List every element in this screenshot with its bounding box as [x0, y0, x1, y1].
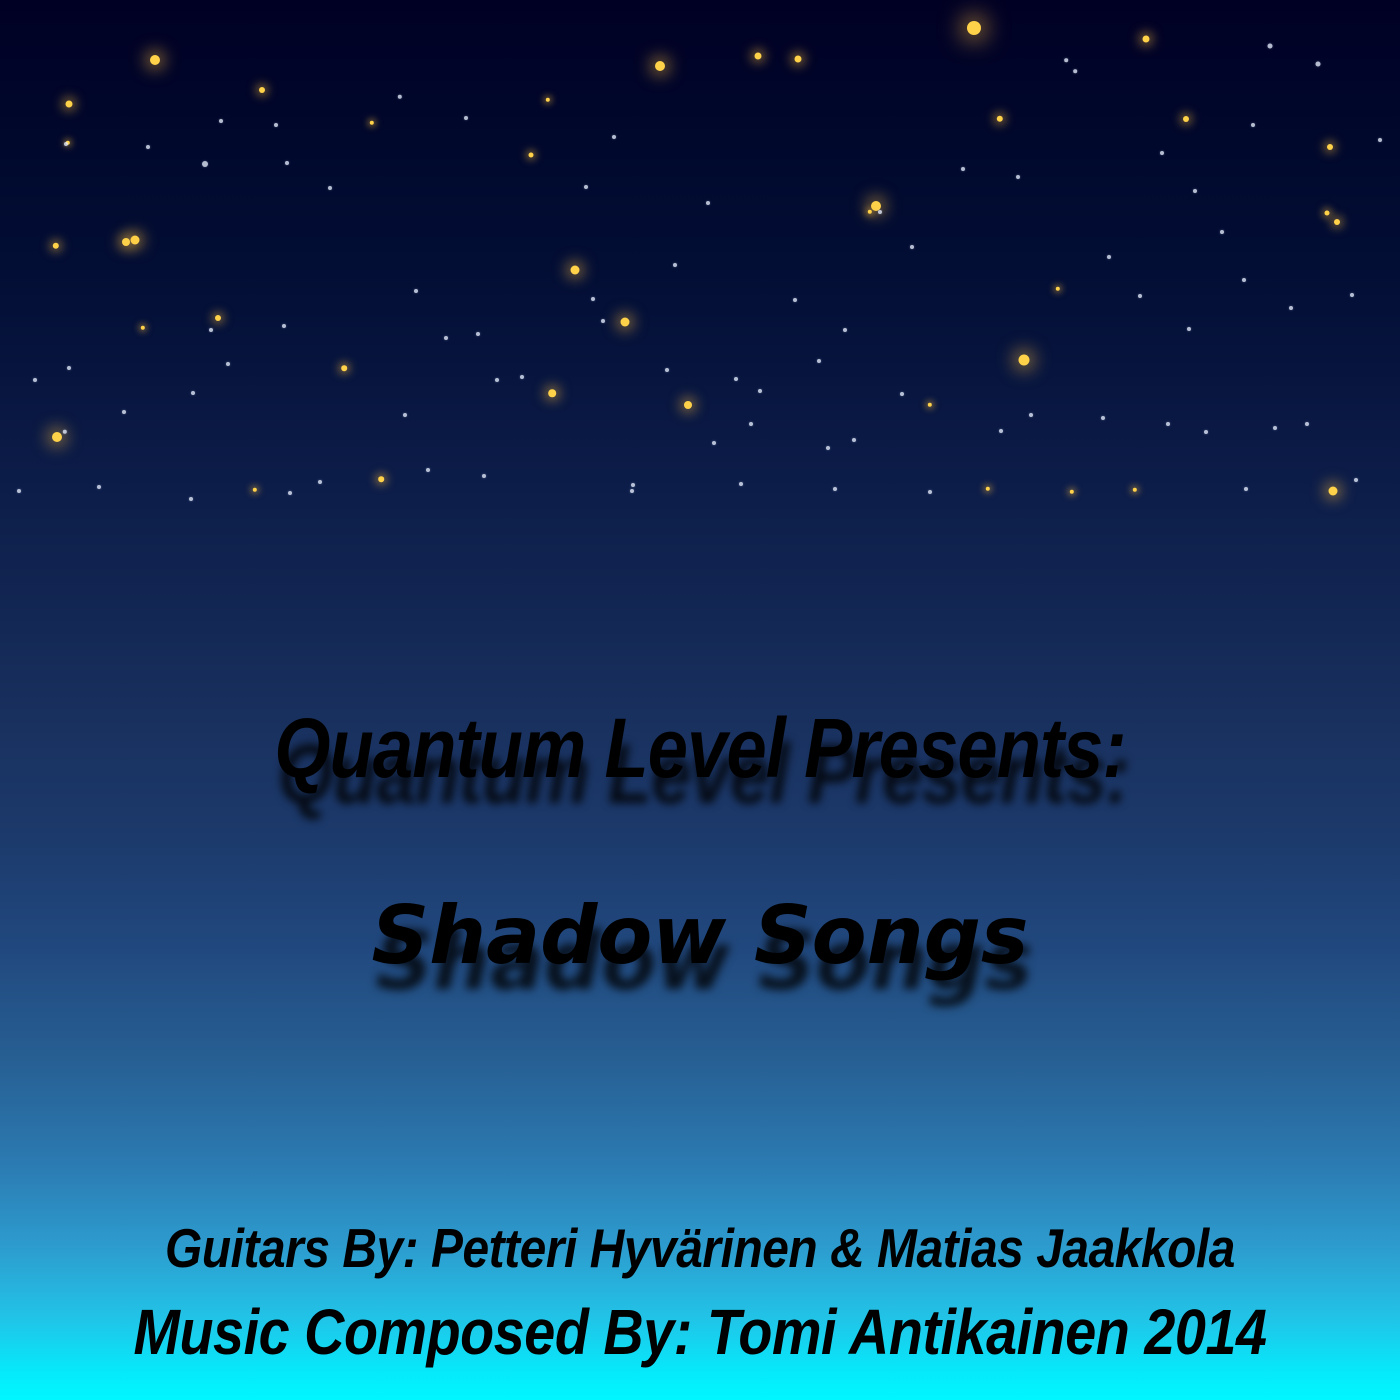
star-icon [426, 468, 430, 472]
star-icon [378, 476, 384, 482]
star-icon [852, 438, 856, 442]
star-icon [215, 315, 221, 321]
star-icon [318, 480, 322, 484]
star-icon [141, 326, 145, 330]
star-icon [191, 391, 195, 395]
star-icon [414, 289, 418, 293]
star-icon [1354, 478, 1358, 482]
star-icon [1138, 294, 1142, 298]
star-icon [1160, 151, 1164, 155]
star-icon [712, 441, 716, 445]
star-icon [253, 488, 257, 492]
star-icon [285, 161, 289, 165]
star-icon [673, 263, 677, 267]
star-icon [370, 121, 374, 125]
star-icon [1242, 278, 1246, 282]
star-icon [1166, 422, 1170, 426]
star-icon [961, 167, 965, 171]
album-title: Shadow Songs [0, 896, 1400, 976]
star-icon [150, 55, 160, 65]
star-icon [288, 491, 292, 495]
star-icon [1220, 230, 1224, 234]
star-icon [548, 389, 556, 397]
star-icon [684, 401, 692, 409]
star-icon [1204, 430, 1208, 434]
star-icon [444, 336, 448, 340]
starfield [0, 0, 1400, 520]
star-icon [584, 185, 588, 189]
star-icon [122, 238, 130, 246]
star-icon [189, 497, 193, 501]
star-icon [826, 446, 830, 450]
star-icon [17, 489, 21, 493]
star-icon [817, 359, 821, 363]
star-icon [665, 368, 669, 372]
star-icon [1350, 293, 1354, 297]
star-icon [758, 389, 762, 393]
album-cover: Quantum Level Presents: Shadow Songs Gui… [0, 0, 1400, 1400]
star-icon [219, 119, 223, 123]
star-icon [495, 378, 499, 382]
star-icon [529, 153, 534, 158]
star-icon [476, 332, 480, 336]
star-icon [546, 98, 550, 102]
star-icon [1029, 413, 1033, 417]
star-icon [706, 201, 710, 205]
star-icon [928, 490, 932, 494]
star-icon [131, 236, 140, 245]
star-icon [226, 362, 230, 366]
star-icon [1187, 327, 1191, 331]
credit-guitars: Guitars By: Petteri Hyvärinen & Matias J… [91, 1221, 1309, 1276]
star-icon [1334, 219, 1340, 225]
star-icon [202, 161, 208, 167]
star-icon [1325, 211, 1330, 216]
star-icon [749, 422, 753, 426]
star-icon [53, 243, 59, 249]
star-icon [833, 487, 837, 491]
star-icon [1101, 416, 1105, 420]
credit-composer: Music Composed By: Tomi Antikainen 2014 [91, 1300, 1309, 1364]
star-icon [739, 482, 743, 486]
star-icon [755, 53, 762, 60]
star-icon [843, 328, 847, 332]
star-icon [655, 61, 665, 71]
star-icon [571, 266, 580, 275]
star-icon [328, 186, 332, 190]
star-icon [868, 210, 872, 214]
star-icon [67, 366, 71, 370]
star-icon [146, 145, 150, 149]
star-icon [341, 365, 347, 371]
star-icon [1064, 58, 1068, 62]
star-icon [122, 410, 126, 414]
star-icon [997, 116, 1003, 122]
star-icon [1305, 422, 1309, 426]
star-icon [1378, 138, 1382, 142]
star-icon [274, 123, 278, 127]
star-icon [621, 318, 630, 327]
star-icon [464, 116, 468, 120]
star-icon [1056, 287, 1060, 291]
star-icon [398, 95, 402, 99]
star-icon [403, 413, 407, 417]
star-icon [1327, 144, 1333, 150]
star-icon [878, 210, 882, 214]
star-icon [259, 87, 265, 93]
star-icon [209, 328, 213, 332]
star-icon [630, 489, 634, 493]
star-icon [1268, 44, 1273, 49]
star-icon [967, 21, 981, 35]
star-icon [1251, 123, 1255, 127]
star-icon [1329, 487, 1338, 496]
star-icon [1289, 306, 1293, 310]
star-icon [612, 135, 616, 139]
star-icon [520, 375, 524, 379]
star-icon [52, 432, 62, 442]
star-icon [63, 430, 67, 434]
star-icon [482, 474, 486, 478]
star-icon [591, 297, 595, 301]
star-icon [1273, 426, 1277, 430]
star-icon [282, 324, 286, 328]
star-icon [734, 377, 738, 381]
star-icon [1070, 490, 1074, 494]
star-icon [1016, 175, 1020, 179]
star-icon [928, 403, 932, 407]
page-title: Quantum Level Presents: [98, 706, 1302, 790]
star-icon [999, 429, 1003, 433]
star-icon [1019, 355, 1030, 366]
star-icon [1133, 488, 1137, 492]
star-icon [601, 319, 605, 323]
star-icon [33, 378, 37, 382]
star-icon [793, 298, 797, 302]
star-icon [795, 56, 802, 63]
star-icon [631, 483, 635, 487]
star-icon [1073, 69, 1077, 73]
star-icon [1244, 487, 1248, 491]
star-icon [97, 485, 101, 489]
star-icon [910, 245, 914, 249]
star-icon [64, 142, 68, 146]
star-icon [1193, 189, 1197, 193]
star-icon [1143, 36, 1150, 43]
star-icon [66, 101, 73, 108]
star-icon [1316, 62, 1321, 67]
star-icon [986, 487, 990, 491]
star-icon [1183, 116, 1189, 122]
star-icon [900, 392, 904, 396]
star-icon [1107, 255, 1111, 259]
